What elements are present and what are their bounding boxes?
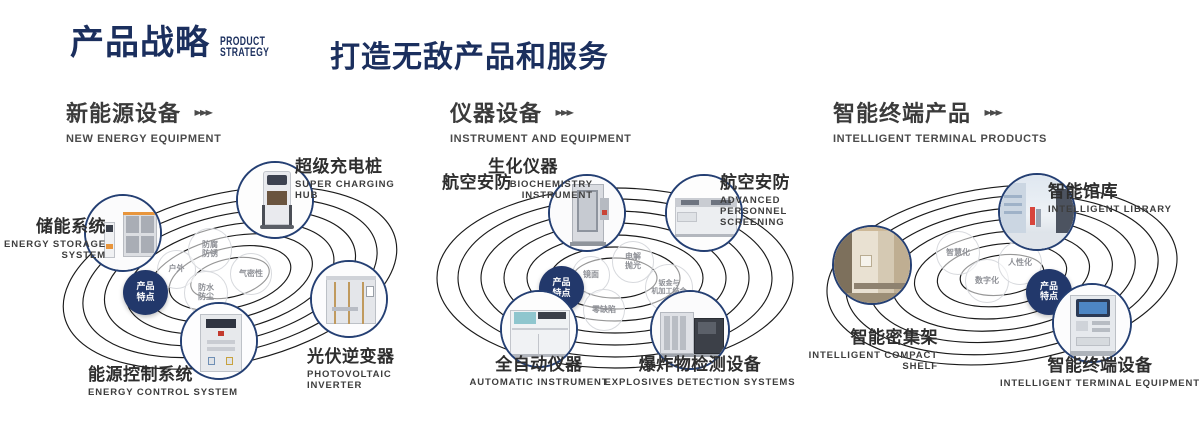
pv-inverter-photo (312, 262, 386, 336)
core-bubble-product-features: 产品 特点 (123, 270, 168, 315)
page-title-en: PRODUCT STRATEGY (220, 36, 269, 58)
label-biochemistry-instrument: 生化仪器 BIOCHEMISTRY INSTRUMENT (453, 152, 593, 201)
node-photovoltaic-inverter[interactable] (310, 260, 388, 338)
chevron-right-icon: ▸▸▸ (555, 105, 572, 119)
page-tagline: 打造无敌产品和服务 (330, 32, 609, 76)
cluster-intelligent-terminal: 智慧化 数字化 人性化 产品 特点 (810, 155, 1200, 405)
section-title-en: INTELLIGENT TERMINAL PRODUCTS (833, 133, 1047, 145)
page-title-cn: 产品战略 (70, 26, 210, 60)
section-header-new-energy: 新能源设备 ▸▸▸ NEW ENERGY EQUIPMENT (66, 96, 221, 145)
label-energy-storage: 储能系统 ENERGY STORAGE SYSTEM (0, 212, 106, 261)
chevron-right-icon: ▸▸▸ (984, 105, 1001, 119)
section-header-intelligent-terminal: 智能终端产品 ▸▸▸ INTELLIGENT TERMINAL PRODUCTS (833, 96, 1047, 145)
terminal-kiosk-photo (1054, 285, 1130, 361)
feature-bubble: 零缺陷 (583, 289, 625, 331)
section-title-cn: 智能终端产品 (833, 96, 971, 128)
section-title-en: NEW ENERGY EQUIPMENT (66, 133, 221, 145)
label-intelligent-terminal-equipment: 智能终端设备 INTELLIGENT TERMINAL EQUIPMENT (1000, 351, 1200, 389)
cluster-instrument: 镜面 电解 抛光 零缺陷 钣金与 机加工结合 产品 特点 (420, 150, 810, 400)
feature-bubble: 气密性 (230, 253, 272, 295)
label-energy-control-system: 能源控制系统 ENERGY CONTROL SYSTEM (88, 360, 238, 398)
label-intelligent-library: 智能馆库 INTELLIGENT LIBRARY (1048, 177, 1172, 215)
label-advanced-personnel-screening: 航空安防 ADVANCED PERSONNEL SCREENING (720, 168, 810, 228)
compact-shelf-photo (834, 227, 910, 303)
section-title-cn: 仪器设备 (450, 96, 542, 128)
label-photovoltaic-inverter: 光伏逆变器 PHOTOVOLTAIC INVERTER (307, 342, 420, 391)
label-intelligent-compact-shelf: 智能密集架 INTELLIGENT COMPACT SHELF (798, 323, 938, 372)
cluster-new-energy: 户外 防腐 防锈 防水 防尘 气密性 产品 特点 (40, 150, 420, 400)
section-title-cn: 新能源设备 (66, 96, 181, 128)
page-title-block: 产品战略 PRODUCT STRATEGY (70, 26, 288, 60)
feature-bubble: 防腐 防锈 (188, 228, 232, 272)
section-header-instrument: 仪器设备 ▸▸▸ INSTRUMENT AND EQUIPMENT (450, 96, 631, 145)
section-title-en: INSTRUMENT AND EQUIPMENT (450, 133, 631, 145)
chevron-right-icon: ▸▸▸ (194, 105, 211, 119)
node-intelligent-compact-shelf[interactable] (832, 225, 912, 305)
label-explosives-detection: 爆炸物检测设备 EXPLOSIVES DETECTION SYSTEMS (600, 350, 800, 388)
